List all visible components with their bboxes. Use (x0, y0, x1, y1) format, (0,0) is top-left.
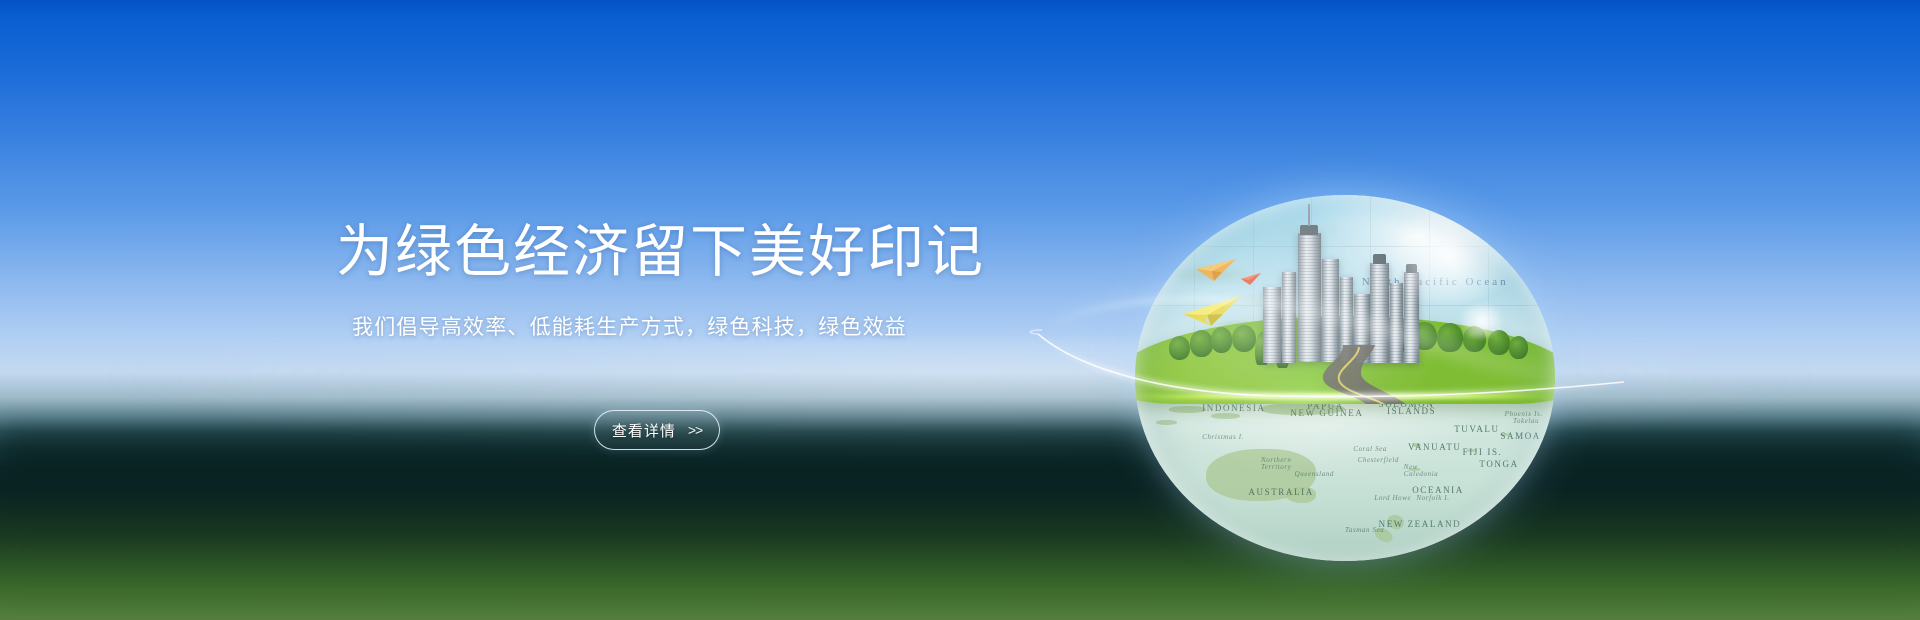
map-label: Tasman Sea (1345, 526, 1384, 534)
map-label: Caledonia (1404, 470, 1439, 478)
map-label: Queensland (1295, 470, 1334, 478)
hero-banner: North Pacific Ocean (0, 0, 1920, 620)
tree (1509, 336, 1528, 359)
skyscraper (1282, 272, 1296, 364)
cta-label: 查看详情 (612, 420, 676, 441)
map-label: Norfolk I. (1416, 494, 1449, 502)
glass-highlight-small (1454, 305, 1509, 338)
map-label: Lord Howe (1374, 494, 1411, 502)
skyscraper-cap (1300, 225, 1318, 235)
hero-copy: 为绿色经济留下美好印记 我们倡导高效率、低能耗生产方式，绿色科技，绿色效益 (336, 222, 1036, 342)
isle-indonesia-b (1211, 413, 1240, 418)
map-label: NEW GUINEA (1290, 408, 1363, 418)
map-label: AUSTRALIA (1248, 487, 1313, 497)
map-label: FIJI IS. (1463, 447, 1503, 457)
map-label: TUVALU (1454, 424, 1499, 434)
map-label: ISLANDS (1387, 406, 1436, 416)
map-label: Territory (1261, 463, 1291, 471)
map-label: SAMOA (1500, 431, 1541, 441)
cta-container: 查看详情 >> (594, 410, 720, 450)
isle-indonesia-c (1156, 420, 1177, 425)
map-label: Tokelau (1513, 417, 1539, 425)
tree (1169, 336, 1190, 360)
map-label: Christmas I. (1202, 433, 1244, 441)
globe-lower-hemisphere: PAPUANEW GUINEASOLOMONISLANDSTUVALUVANUA… (1135, 385, 1555, 561)
winding-road (1303, 345, 1429, 404)
view-details-button[interactable]: 查看详情 >> (594, 410, 720, 450)
tree (1211, 327, 1233, 353)
paper-plane-icon (1240, 272, 1262, 286)
isle-indonesia-a (1169, 406, 1207, 412)
page-subtitle: 我们倡导高效率、低能耗生产方式，绿色科技，绿色效益 (352, 313, 1036, 342)
skyscraper (1263, 287, 1281, 364)
globe-illustration: North Pacific Ocean (1040, 180, 1660, 580)
map-label: INDONESIA (1202, 403, 1265, 413)
tree (1232, 325, 1256, 353)
map-label: VANUATU (1408, 442, 1462, 452)
tree (1190, 330, 1214, 357)
skyscraper-tallest (1298, 233, 1321, 361)
paper-plane-icon (1194, 257, 1238, 283)
glass-highlight (1379, 210, 1522, 305)
map-label: TONGA (1479, 459, 1518, 469)
antenna-icon (1308, 204, 1310, 226)
map-label: NEW ZEALAND (1379, 519, 1462, 529)
page-title: 为绿色经济留下美好印记 (336, 222, 1036, 284)
glass-globe: North Pacific Ocean (1135, 195, 1555, 561)
map-label: Chesterfield (1358, 456, 1399, 464)
paper-plane-icon-large (1181, 294, 1243, 328)
map-label: Coral Sea (1353, 445, 1387, 453)
chevron-right-double-icon: >> (688, 422, 702, 438)
